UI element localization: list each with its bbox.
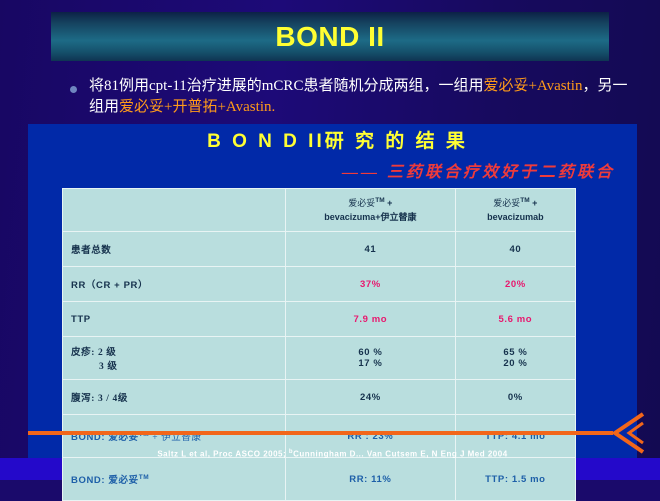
bullet-dot-icon (70, 86, 77, 93)
table-row: RR（CR + PR） 37% 20% (63, 267, 576, 302)
row-value-rash-a: 60 % 17 % (286, 337, 456, 380)
col-a-plus: + (387, 198, 392, 208)
table-header-col-a: 爱必妥TM + bevacizuma+伊立替康 (286, 189, 456, 232)
row-value-rr-b: 20% (455, 267, 575, 302)
table-header-col-b: 爱必妥TM + bevacizumab (455, 189, 575, 232)
col-b-tm: TM (520, 197, 529, 204)
row-value-rash-b: 65 % 20 % (455, 337, 575, 380)
row-value-total-patients-b: 40 (455, 232, 575, 267)
row-value-diarrhea-a: 24% (286, 380, 456, 415)
table-header-blank (63, 189, 286, 232)
citation-post: Cunningham D... Van Cutsem E, N Eng J Me… (293, 450, 508, 459)
col-a-drug: 爱必妥 (348, 198, 375, 208)
table-header-row: 爱必妥TM + bevacizuma+伊立替康 爱必妥TM + bevacizu… (63, 189, 576, 232)
bullet-highlight-2: 爱必妥+开普拓+Avastin. (119, 99, 275, 115)
bullet-text: 将81例用cpt-11治疗进展的mCRC患者随机分成两组，一组用爱必妥+Avas… (89, 76, 640, 119)
row-value-rash-a-g2: 60 % (358, 347, 382, 358)
row-label-rash-grade3: 3 级 (71, 358, 117, 372)
row-value-rr-a: 37% (286, 267, 456, 302)
section-subheading: —— 三药联合疗效好于二药联合 (28, 158, 637, 182)
bullet-highlight-1: 爱必妥+Avastin (483, 78, 582, 94)
chevron-arrow-icon (585, 412, 647, 454)
citation: Saltz L et al, Proc ASCO 2005; bCunningh… (28, 449, 637, 459)
row-value-diarrhea-b: 0% (455, 380, 575, 415)
table-row: 皮疹: 2 级 3 级 60 % 17 % 65 % 20 % (63, 337, 576, 380)
slide-canvas: BOND II 将81例用cpt-11治疗进展的mCRC患者随机分成两组，一组用… (0, 0, 660, 480)
row-value-rash-a-g3: 17 % (358, 358, 382, 369)
row-label-rr: RR（CR + PR） (63, 267, 286, 302)
row-label-rash-grade2: 皮疹: 2 级 (71, 348, 116, 358)
row-value-ttp-b: 5.6 mo (455, 302, 575, 337)
row-value-bond-mono-rr: RR: 11% (286, 458, 456, 501)
citation-pre: Saltz L et al, Proc ASCO 2005; (157, 450, 289, 459)
table-row: 腹泻: 3 / 4级 24% 0% (63, 380, 576, 415)
bullet-paragraph: 将81例用cpt-11治疗进展的mCRC患者随机分成两组，一组用爱必妥+Avas… (70, 76, 640, 119)
col-b-drug: 爱必妥 (493, 198, 520, 208)
row-value-rash-b-g2: 65 % (503, 347, 527, 358)
row-value-ttp-a: 7.9 mo (286, 302, 456, 337)
row-label-ttp: TTP (63, 302, 286, 337)
section-heading: B O N D II研 究 的 结 果 (28, 126, 637, 153)
slide-title-bar: BOND II (51, 12, 609, 61)
row-label-bond-mono-prefix: BOND: 爱必妥 (71, 475, 139, 486)
row-label-total-patients: 患者总数 (63, 232, 286, 267)
col-b-plus: + (532, 198, 537, 208)
col-b-regimen: bevacizumab (487, 212, 544, 222)
table-row: 患者总数 41 40 (63, 232, 576, 267)
col-a-regimen: bevacizuma+伊立替康 (324, 212, 416, 222)
row-value-bond-mono-ttp: TTP: 1.5 mo (455, 458, 575, 501)
orange-divider (28, 431, 588, 435)
row-label-rash: 皮疹: 2 级 3 级 (63, 337, 286, 380)
page-title: BOND II (275, 21, 384, 53)
row-value-rash-b-g3: 20 % (503, 358, 527, 369)
row-label-bond-mono: BOND: 爱必妥TM (63, 458, 286, 501)
row-label-diarrhea: 腹泻: 3 / 4级 (63, 380, 286, 415)
row-value-total-patients-a: 41 (286, 232, 456, 267)
section-heading-block: B O N D II研 究 的 结 果 —— 三药联合疗效好于二药联合 (28, 126, 637, 182)
bullet-text-part1: 将81例用cpt-11治疗进展的mCRC患者随机分成两组，一组用 (89, 78, 483, 94)
table-row: BOND: 爱必妥TM RR: 11% TTP: 1.5 mo (63, 458, 576, 501)
table-row: TTP 7.9 mo 5.6 mo (63, 302, 576, 337)
col-a-tm: TM (375, 197, 384, 204)
